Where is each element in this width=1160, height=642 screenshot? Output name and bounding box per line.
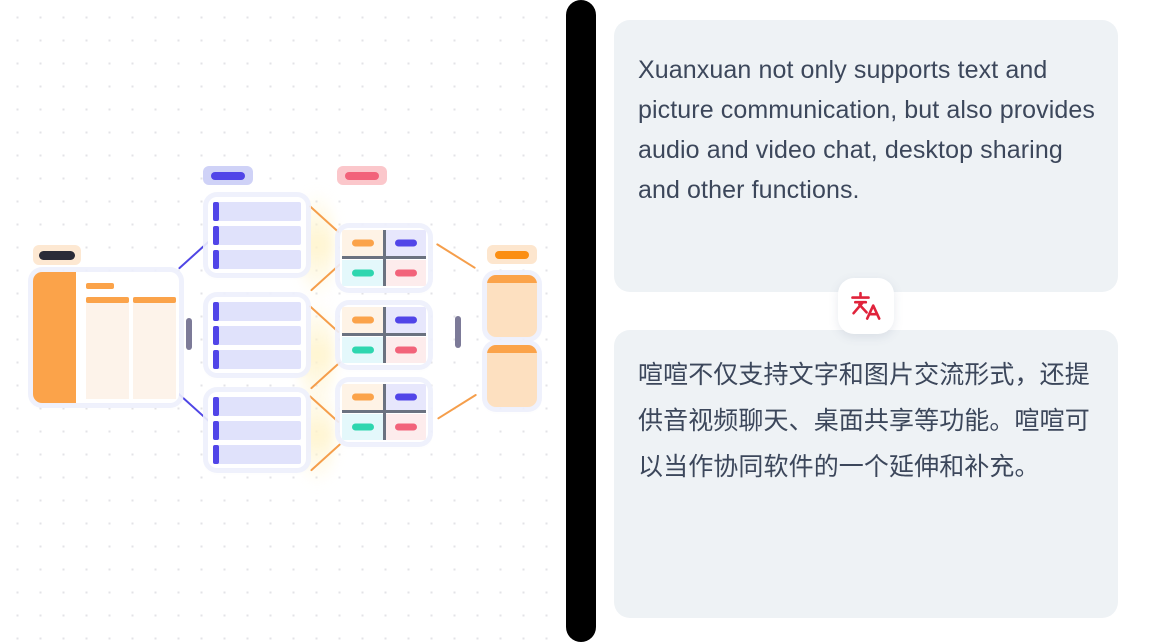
list-row xyxy=(213,397,301,416)
source-text: Xuanxuan not only supports text and pict… xyxy=(638,50,1096,210)
quadrant-pill xyxy=(395,270,417,277)
app-card-title-bar xyxy=(86,283,114,289)
app-card-column xyxy=(133,297,176,399)
chip-blue xyxy=(203,166,253,185)
quadrant-pill xyxy=(352,394,374,401)
chip-orange xyxy=(487,245,537,264)
quadrant-bottom-right xyxy=(385,337,426,363)
quadrant-axis-vertical xyxy=(383,307,386,363)
document-card-header xyxy=(487,275,537,283)
target-text: 喧喧不仅支持文字和图片交流形式，还提供音视频聊天、桌面共享等功能。喧喧可以当作协… xyxy=(638,352,1096,490)
chip-pill xyxy=(345,172,379,180)
quadrant-bottom-right xyxy=(385,260,426,286)
quadrant-matrix-card xyxy=(340,382,428,442)
quadrant-matrix-card xyxy=(340,305,428,365)
list-row xyxy=(213,445,301,464)
quadrant-pill xyxy=(352,424,374,431)
separator-bar xyxy=(186,318,192,350)
separator-bar xyxy=(455,316,461,348)
quadrant-top-left xyxy=(342,384,383,410)
quadrant-top-left xyxy=(342,307,383,333)
quadrant-axis-vertical xyxy=(383,384,386,440)
quadrant-pill xyxy=(352,347,374,354)
quadrant-bottom-right xyxy=(385,414,426,440)
list-row xyxy=(213,421,301,440)
list-row xyxy=(213,350,301,369)
orange-app-card xyxy=(33,272,179,403)
device-edge-bar xyxy=(566,0,596,642)
chip-pill xyxy=(495,251,529,259)
target-text-panel[interactable]: 喧喧不仅支持文字和图片交流形式，还提供音视频聊天、桌面共享等功能。喧喧可以当作协… xyxy=(614,330,1118,618)
quadrant-axis-vertical xyxy=(383,230,386,286)
orange-document-card xyxy=(487,345,537,407)
quadrant-pill xyxy=(395,347,417,354)
list-row xyxy=(213,202,301,221)
document-card-header xyxy=(487,345,537,353)
list-row xyxy=(213,250,301,269)
quadrant-pill xyxy=(352,270,374,277)
quadrant-pill xyxy=(395,424,417,431)
translate-icon xyxy=(849,289,883,323)
quadrant-bottom-left xyxy=(342,414,383,440)
chip-pill xyxy=(211,172,245,180)
app-card-column xyxy=(86,297,129,399)
app-card-column-header xyxy=(86,297,129,303)
list-row xyxy=(213,226,301,245)
quadrant-top-left xyxy=(342,230,383,256)
blue-list-card xyxy=(208,392,306,468)
quadrant-top-right xyxy=(385,230,426,256)
app-card-sidebar xyxy=(33,272,76,403)
orange-document-card xyxy=(487,275,537,337)
list-row xyxy=(213,302,301,321)
quadrant-bottom-left xyxy=(342,337,383,363)
quadrant-pill xyxy=(395,317,417,324)
chip-pill xyxy=(39,251,75,260)
quadrant-pill xyxy=(395,240,417,247)
quadrant-pill xyxy=(352,317,374,324)
source-text-panel[interactable]: Xuanxuan not only supports text and pict… xyxy=(614,20,1118,292)
chip-red xyxy=(337,166,387,185)
screenshot-stage: Xuanxuan not only supports text and pict… xyxy=(0,0,1160,642)
quadrant-matrix-card xyxy=(340,228,428,288)
quadrant-top-right xyxy=(385,307,426,333)
blue-list-card xyxy=(208,297,306,373)
list-row xyxy=(213,326,301,345)
chip-dark xyxy=(33,245,81,265)
app-card-column-header xyxy=(133,297,176,303)
quadrant-bottom-left xyxy=(342,260,383,286)
illustration-panel xyxy=(0,0,566,642)
translate-button[interactable] xyxy=(838,278,894,334)
quadrant-pill xyxy=(395,394,417,401)
quadrant-pill xyxy=(352,240,374,247)
blue-list-card xyxy=(208,197,306,273)
quadrant-top-right xyxy=(385,384,426,410)
